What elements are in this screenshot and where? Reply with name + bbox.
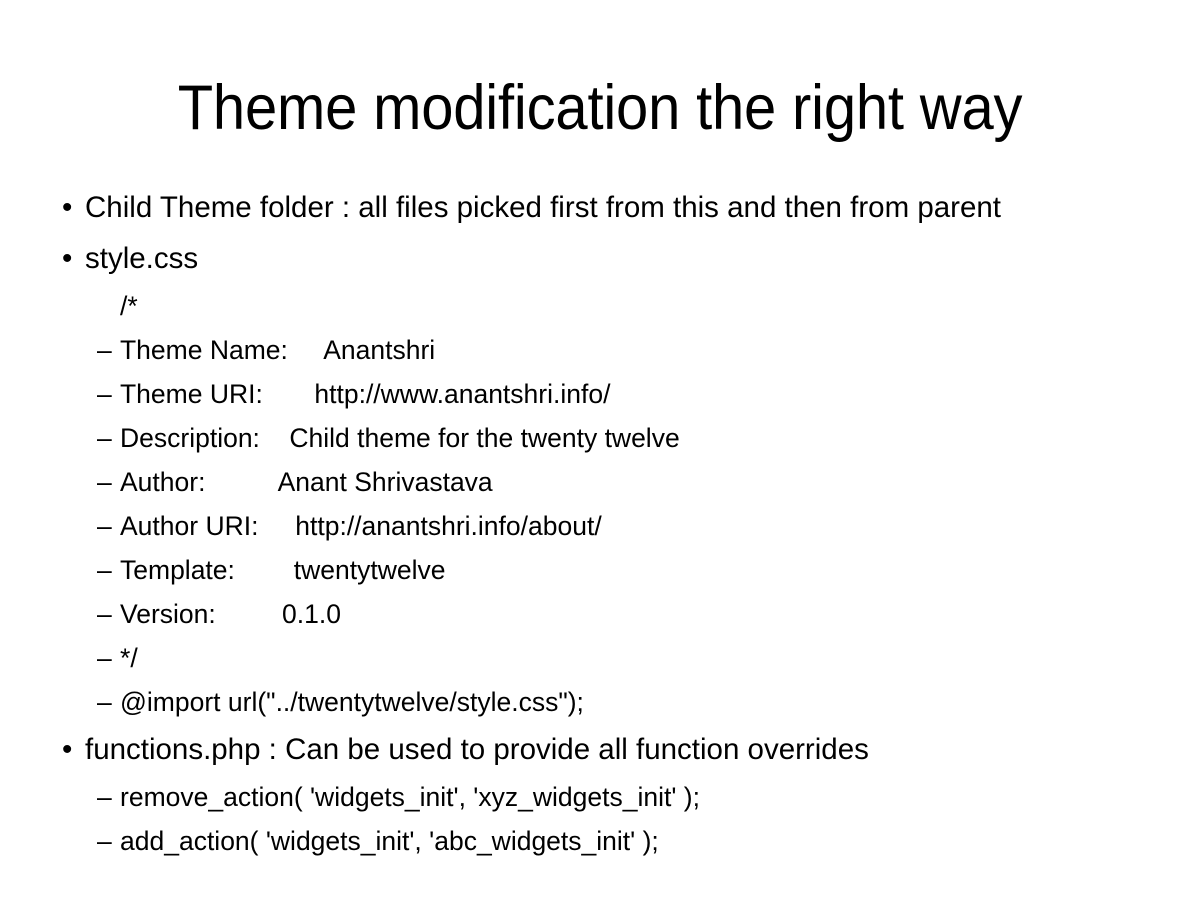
presentation-slide: Theme modification the right way •Child …: [0, 0, 1200, 899]
dash-marker-icon: –: [97, 328, 117, 372]
dash-marker-icon: –: [97, 636, 117, 680]
dash-marker-icon: –: [97, 372, 117, 416]
bullet-item: •Child Theme folder : all files picked f…: [0, 182, 1200, 233]
sub-bullet-item: /*: [0, 284, 1200, 328]
sub-bullet-item: –add_action( 'widgets_init', 'abc_widget…: [0, 819, 1200, 863]
bullet-marker-icon: •: [62, 182, 80, 233]
bullet-text: remove_action( 'widgets_init', 'xyz_widg…: [120, 782, 700, 812]
bullet-text: Template: twentytwelve: [120, 555, 446, 585]
sub-bullet-item: –remove_action( 'widgets_init', 'xyz_wid…: [0, 775, 1200, 819]
bullet-text: Description: Child theme for the twenty …: [120, 423, 680, 453]
bullet-marker-icon: •: [62, 233, 80, 284]
sub-bullet-item: –Theme Name: Anantshri: [0, 328, 1200, 372]
sub-bullet-item: –@import url("../twentytwelve/style.css"…: [0, 680, 1200, 724]
bullet-text: */: [120, 643, 138, 673]
sub-bullet-item: –Author: Anant Shrivastava: [0, 460, 1200, 504]
bullet-text: style.css: [85, 242, 198, 275]
bullet-text: Theme Name: Anantshri: [120, 335, 435, 365]
bullet-text: Author: Anant Shrivastava: [120, 467, 493, 497]
sub-bullet-item: –*/: [0, 636, 1200, 680]
bullet-item: •functions.php : Can be used to provide …: [0, 724, 1200, 775]
slide-body-outline: •Child Theme folder : all files picked f…: [0, 182, 1200, 863]
dash-marker-icon: –: [97, 548, 117, 592]
sub-bullet-item: –Template: twentytwelve: [0, 548, 1200, 592]
sub-bullet-item: –Description: Child theme for the twenty…: [0, 416, 1200, 460]
slide-title: Theme modification the right way: [48, 68, 1152, 148]
dash-marker-icon: –: [97, 592, 117, 636]
sub-bullet-item: –Version: 0.1.0: [0, 592, 1200, 636]
bullet-text: Child Theme folder : all files picked fi…: [85, 191, 1001, 224]
dash-marker-icon: –: [97, 504, 117, 548]
bullet-text: Version: 0.1.0: [120, 599, 341, 629]
dash-marker-icon: –: [97, 680, 117, 724]
bullet-text: functions.php : Can be used to provide a…: [85, 733, 869, 766]
sub-bullet-item: –Theme URI: http://www.anantshri.info/: [0, 372, 1200, 416]
bullet-item: •style.css: [0, 233, 1200, 284]
bullet-marker-icon: •: [62, 724, 80, 775]
bullet-text: /*: [120, 291, 138, 321]
bullet-text: Theme URI: http://www.anantshri.info/: [120, 379, 610, 409]
bullet-text: Author URI: http://anantshri.info/about/: [120, 511, 602, 541]
dash-marker-icon: –: [97, 775, 117, 819]
dash-marker-icon: –: [97, 460, 117, 504]
dash-marker-icon: –: [97, 819, 117, 863]
sub-bullet-item: –Author URI: http://anantshri.info/about…: [0, 504, 1200, 548]
bullet-text: @import url("../twentytwelve/style.css")…: [120, 687, 584, 717]
bullet-text: add_action( 'widgets_init', 'abc_widgets…: [120, 826, 659, 856]
dash-marker-icon: –: [97, 416, 117, 460]
